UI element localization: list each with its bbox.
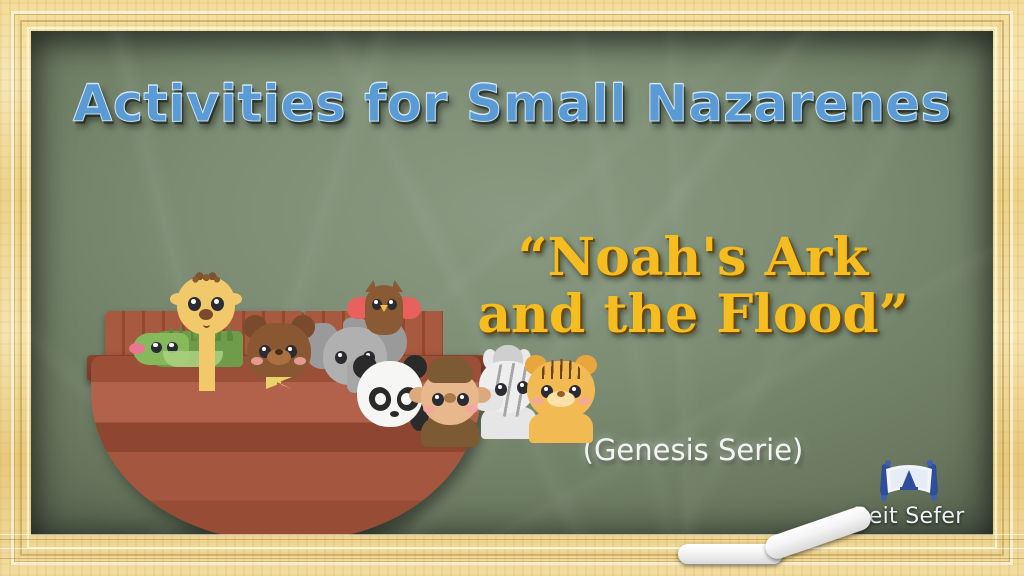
tiger-figure xyxy=(523,353,599,439)
chalkboard: Activities for Small Nazarenes “Noah's A… xyxy=(31,31,993,535)
sheep-nose xyxy=(444,393,456,403)
ledge-shadow-2 xyxy=(0,558,1024,559)
slide-canvas: Activities for Small Nazarenes “Noah's A… xyxy=(0,0,1024,576)
ledge-shadow-1 xyxy=(0,539,1024,540)
panda-eye-left xyxy=(375,393,386,405)
bear-cheek-right xyxy=(294,357,306,365)
sheep-cheek-left xyxy=(423,405,435,413)
page-headline: Activities for Small Nazarenes xyxy=(31,75,993,134)
tiger-cheek-left xyxy=(531,397,544,405)
page-title-line-2: and the Flood” xyxy=(453,286,933,343)
bear-nose xyxy=(275,349,283,355)
zebra-eye-left xyxy=(495,383,507,396)
panda-nose xyxy=(390,411,399,417)
sheep-figure xyxy=(413,357,489,441)
owl-eye-right xyxy=(387,299,397,310)
giraffe-figure xyxy=(177,271,235,389)
sheep-cheek-right xyxy=(466,405,478,413)
tiger-cheek-right xyxy=(578,397,591,405)
page-title-line-1: “Noah's Ark xyxy=(518,227,869,288)
crocodile-eye-left xyxy=(151,342,162,353)
owl-figure xyxy=(353,283,415,339)
ledge-highlight-1 xyxy=(0,534,1024,535)
torah-scroll-icon xyxy=(849,458,969,504)
sheep-eye-right xyxy=(457,393,469,406)
page-title: “Noah's Ark and the Flood” xyxy=(453,229,933,343)
tiger-nose xyxy=(557,391,565,397)
sheep-eye-left xyxy=(432,393,444,406)
giraffe-spots xyxy=(189,271,225,283)
owl-eye-left xyxy=(372,299,382,310)
chalk-ledge xyxy=(0,532,1024,576)
giraffe-eye-right xyxy=(211,297,224,311)
giraffe-eye-left xyxy=(188,297,201,311)
ledge-highlight-2 xyxy=(0,548,1024,549)
bear-figure xyxy=(243,315,315,391)
noahs-ark-illustration xyxy=(91,271,481,535)
giraffe-mouth xyxy=(203,319,210,328)
crocodile-snout xyxy=(129,343,145,354)
bear-cheek-left xyxy=(251,357,263,365)
sheep-wool-tuft xyxy=(427,357,473,383)
giraffe-head xyxy=(177,277,235,335)
elephant-eye-left xyxy=(335,351,347,364)
